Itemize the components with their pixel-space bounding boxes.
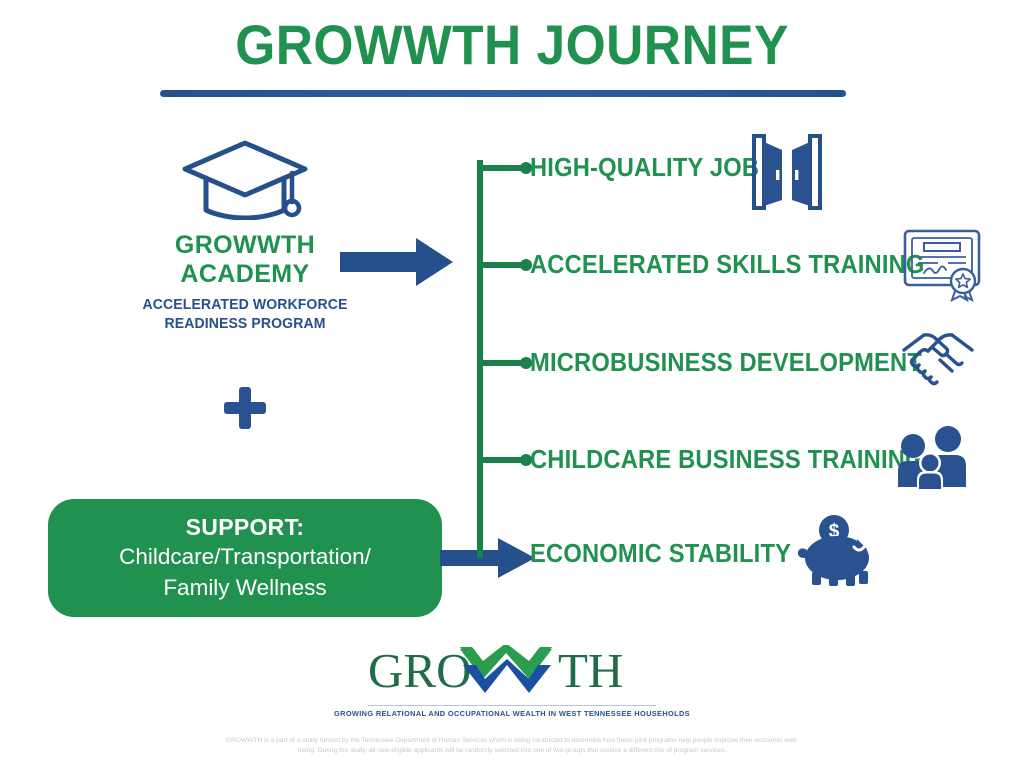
support-line-2: Family Wellness [163,572,326,603]
academy-subtitle: ACCELERATED WORKFORCE READINESS PROGRAM [104,296,385,334]
page-title: GROWWTH JOURNEY [41,14,983,76]
logo-tagline-rule [368,705,656,706]
family-group-icon [896,425,974,498]
footer-disclaimer: GROWWTH is a part of a study funded by t… [218,736,806,756]
double-doors-icon [752,134,822,215]
certificate-icon [902,228,988,307]
logo-text-left: GRO [368,645,471,697]
outcomes-spine-connector [477,160,483,558]
support-line-1: Childcare/Transportation/ [119,541,371,572]
support-to-stability-arrow-icon [440,536,536,585]
plus-symbol-icon [224,387,266,429]
piggy-bank-icon: $ [797,514,877,593]
academy-subtitle-line1: ACCELERATED WORKFORCE [104,296,385,315]
handshake-icon [898,330,978,397]
outcome-label-microbusiness-development: MICROBUSINESS DEVELOPMENT [530,349,922,378]
academy-to-outcomes-arrow-icon [340,236,454,293]
support-box: SUPPORT: Childcare/Transportation/ Famil… [48,499,442,617]
growwth-logo: GRO TH GROWING RELATIONAL AND OCCUPATION… [0,645,1024,718]
outcome-label-accelerated-skills-training: ACCELERATED SKILLS TRAINING [530,251,925,280]
plus-vertical-bar [239,387,251,429]
support-title: SUPPORT: [186,513,305,541]
logo-tagline: GROWING RELATIONAL AND OCCUPATIONAL WEAL… [0,709,1024,718]
outcome-label-economic-stability: ECONOMIC STABILITY [530,540,791,569]
outcome-label-high-quality-job: HIGH-QUALITY JOB [530,154,759,183]
outcome-label-childcare-business-training: CHILDCARE BUSINESS TRAINING [530,446,924,475]
graduation-cap-icon [100,138,390,225]
title-divider-rule [160,90,846,97]
academy-subtitle-line2: READINESS PROGRAM [104,315,385,334]
logo-text-right: TH [558,645,623,697]
logo-mark: GRO TH [368,645,656,702]
